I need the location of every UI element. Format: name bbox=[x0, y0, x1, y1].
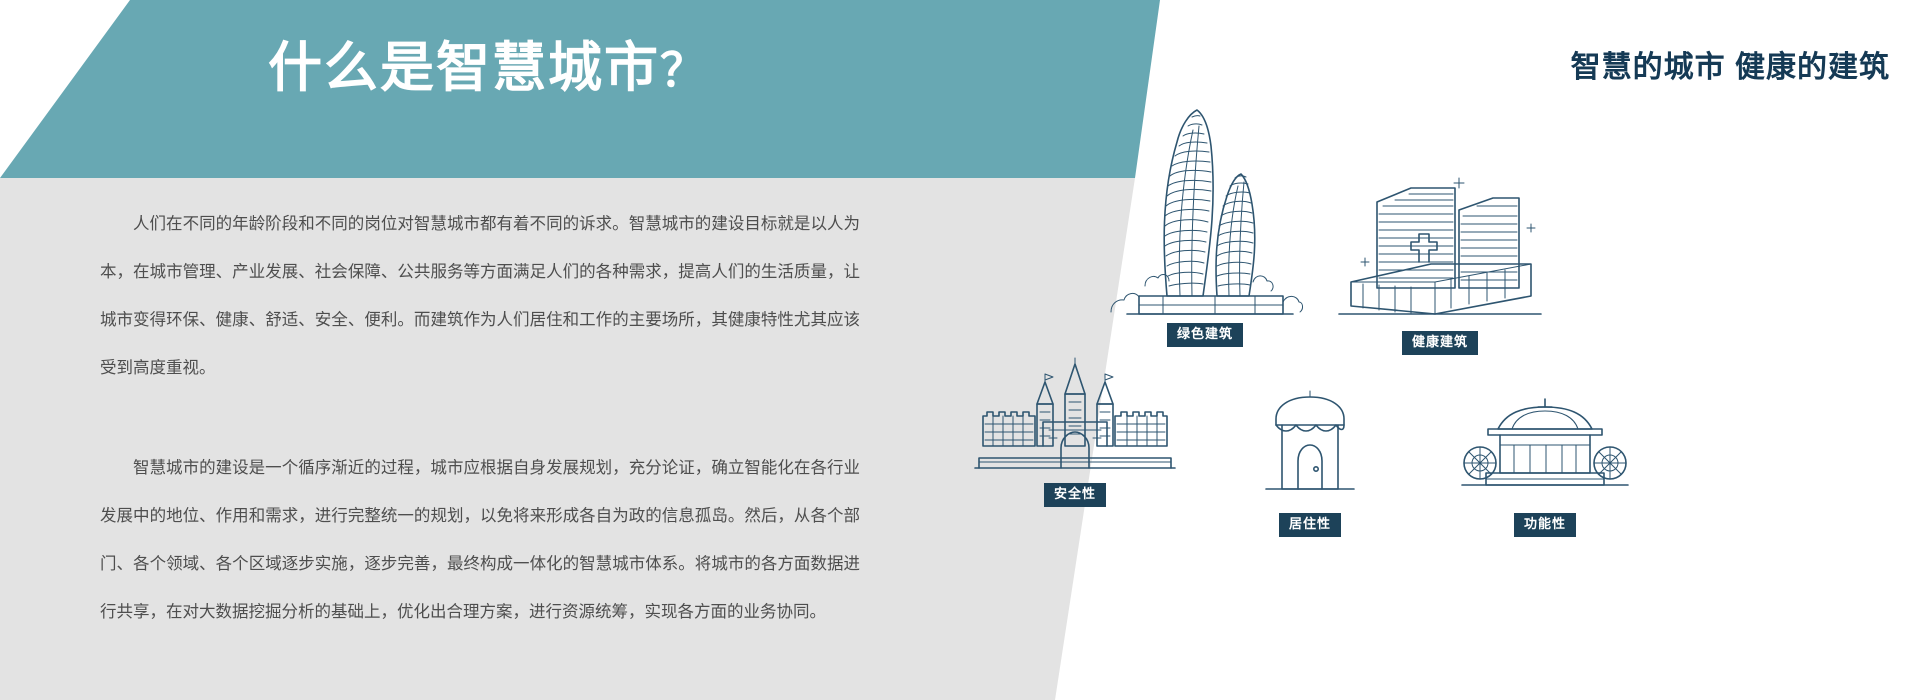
illustration-item-functionality: 功能性 bbox=[1380, 385, 1710, 537]
paragraph-2: 智慧城市的建设是一个循序渐近的过程，城市应根据自身发展规划，充分论证，确立智能化… bbox=[100, 444, 860, 636]
page-title-text: 什么是智慧城市 bbox=[268, 38, 660, 98]
house-icon bbox=[1250, 385, 1370, 505]
illustration-label-safety: 安全性 bbox=[1044, 483, 1106, 507]
illustration-item-healthy-building: 健康建筑 bbox=[1275, 158, 1605, 355]
paragraph-1: 人们在不同的年龄阶段和不同的岗位对智慧城市都有着不同的诉求。智慧城市的建设目标就… bbox=[100, 200, 860, 392]
page-title: 什么是智慧城市？ bbox=[268, 36, 708, 101]
pavilion-icon bbox=[1460, 385, 1630, 505]
illustration-label-livability: 居住性 bbox=[1279, 513, 1341, 537]
headline-right: 智慧的城市 健康的建筑 bbox=[1571, 42, 1890, 86]
body-text-content: 人们在不同的年龄阶段和不同的岗位对智慧城市都有着不同的诉求。智慧城市的建设目标就… bbox=[100, 200, 860, 636]
page-title-question-mark: ？ bbox=[660, 44, 708, 96]
illustration-group: 绿色建筑 bbox=[1040, 100, 1920, 660]
illustration-row-top: 绿色建筑 bbox=[1040, 100, 1920, 340]
illustration-row-bottom: 安全性 居住性 bbox=[1040, 350, 1920, 610]
slide-root: 什么是智慧城市？ 智慧的城市 健康的建筑 人们在不同的年龄阶段和不同的岗位对智慧… bbox=[0, 0, 1920, 700]
hospital-building-icon bbox=[1335, 158, 1545, 323]
illustration-label-green-building: 绿色建筑 bbox=[1167, 323, 1243, 347]
illustration-label-functionality: 功能性 bbox=[1514, 513, 1576, 537]
